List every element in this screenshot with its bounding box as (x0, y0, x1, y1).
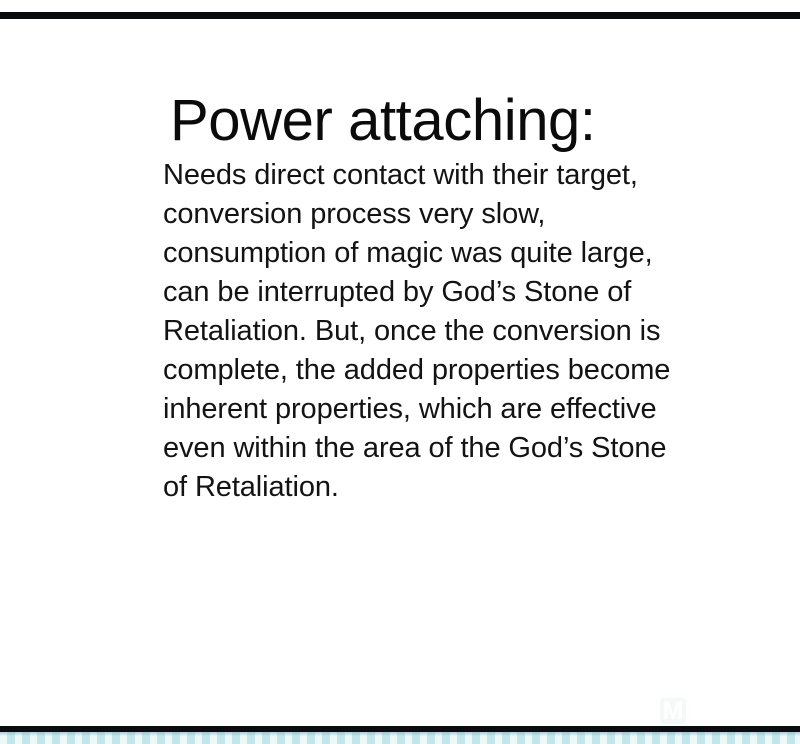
body-line: Needs direct contact with their target, (163, 156, 723, 195)
watermark-m-badge-icon: M (656, 694, 690, 728)
body-line: inherent properties, which are effective (163, 390, 723, 429)
site-watermark: M 漫画岛 (656, 691, 793, 731)
body-line: conversion process very slow, (163, 195, 723, 234)
watermark-badge-letter: M (663, 699, 684, 724)
body-line: can be interrupted by God’s Stone of (163, 273, 723, 312)
body-line: even within the area of the God’s Stone (163, 429, 723, 468)
panel-body-text: Needs direct contact with their target, … (163, 156, 723, 507)
body-line: Retaliation. But, once the conversion is (163, 312, 723, 351)
bottom-edge-strip (0, 732, 800, 744)
bottom-strip-shadow (0, 732, 800, 736)
body-line: of Retaliation. (163, 468, 723, 507)
panel-title: Power attaching: (170, 88, 723, 154)
body-line: complete, the added properties become (163, 351, 723, 390)
body-line: consumption of magic was quite large, (163, 234, 723, 273)
watermark-site-name: 漫画岛 (697, 696, 793, 727)
comic-panel-page: Power attaching: Needs direct contact wi… (0, 0, 800, 744)
text-content-block: Power attaching: Needs direct contact wi… (163, 88, 723, 507)
top-divider-rule (0, 12, 800, 19)
